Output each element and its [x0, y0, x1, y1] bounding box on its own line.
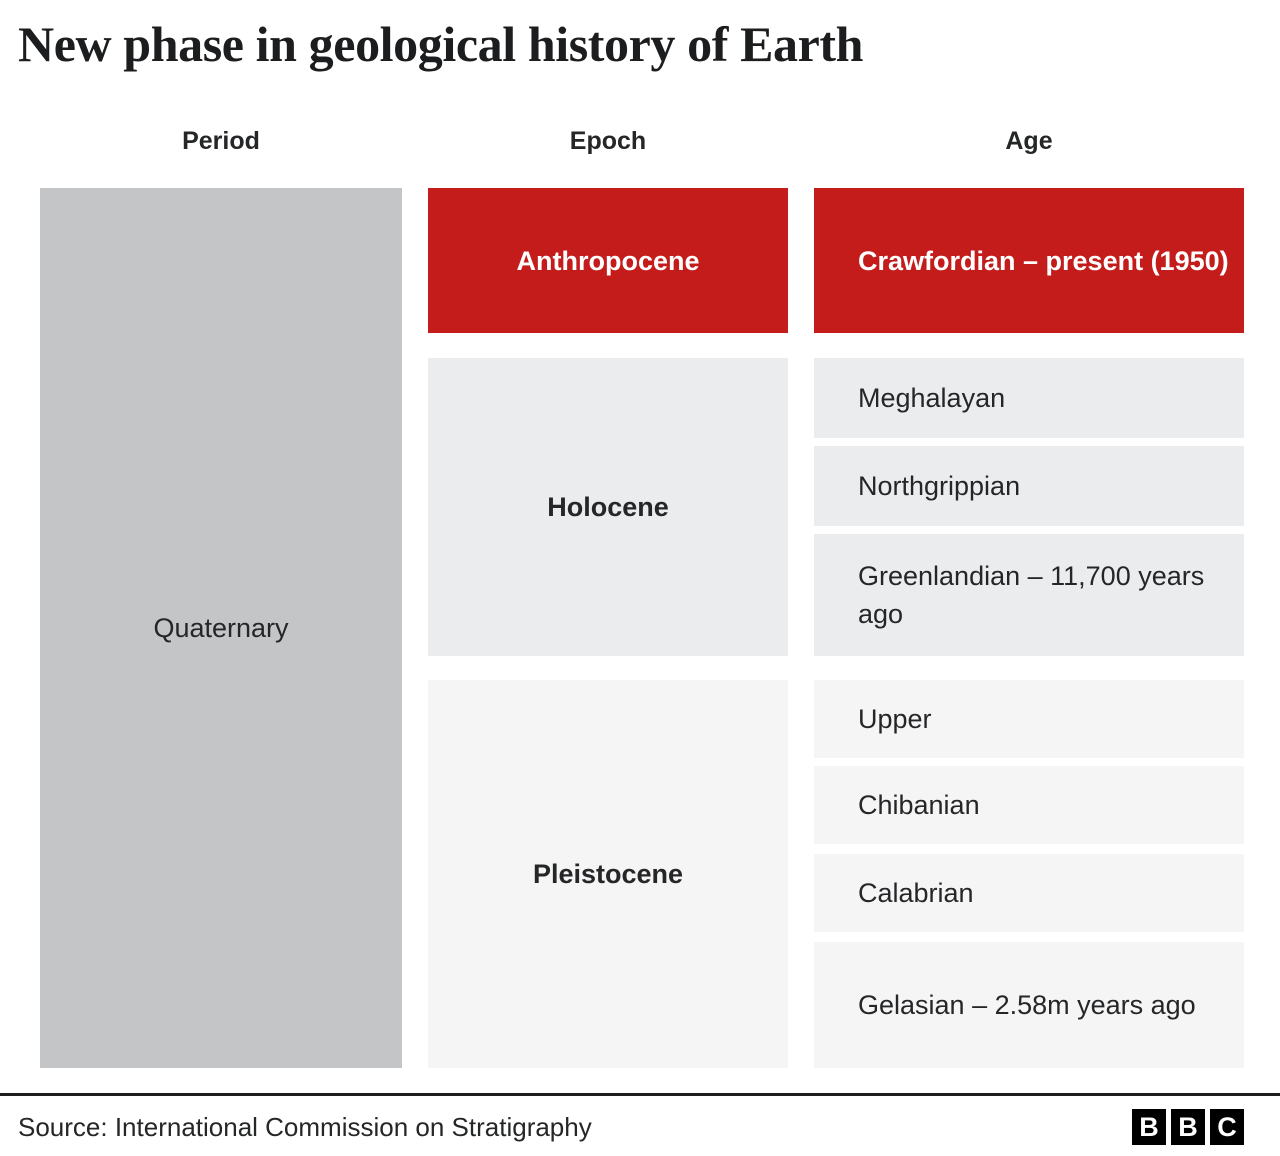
age-label-calabrian: Calabrian — [858, 874, 974, 912]
age-label-northgrippian: Northgrippian — [858, 467, 1020, 505]
epoch-cell-anthropocene: Anthropocene — [428, 188, 788, 333]
age-label-upper: Upper — [858, 700, 932, 738]
period-cell-quaternary: Quaternary — [40, 188, 402, 1068]
column-header-age: Age — [814, 126, 1244, 156]
bbc-logo-letter-2: B — [1171, 1109, 1205, 1145]
age-label-meghalayan: Meghalayan — [858, 379, 1005, 417]
age-label-greenlandian: Greenlandian – 11,700 years ago — [858, 557, 1244, 633]
age-label-chibanian: Chibanian — [858, 786, 980, 824]
bbc-logo-letter-3: C — [1210, 1109, 1244, 1145]
age-cell-northgrippian: Northgrippian — [814, 446, 1244, 526]
epoch-label-anthropocene: Anthropocene — [516, 242, 699, 280]
column-header-period: Period — [40, 126, 402, 156]
age-cell-crawfordian: Crawfordian – present (1950) — [814, 188, 1244, 333]
age-label-crawfordian: Crawfordian – present (1950) — [858, 242, 1229, 280]
footer-divider — [0, 1093, 1280, 1096]
bbc-logo: B B C — [1132, 1109, 1244, 1145]
epoch-label-pleistocene: Pleistocene — [533, 855, 683, 893]
column-header-epoch: Epoch — [428, 126, 788, 156]
age-cell-chibanian: Chibanian — [814, 766, 1244, 844]
epoch-label-holocene: Holocene — [547, 488, 669, 526]
age-cell-upper: Upper — [814, 680, 1244, 758]
page-title: New phase in geological history of Earth — [18, 13, 1218, 75]
epoch-cell-holocene: Holocene — [428, 358, 788, 656]
age-cell-calabrian: Calabrian — [814, 854, 1244, 932]
bbc-logo-letter-1: B — [1132, 1109, 1166, 1145]
infographic-canvas: New phase in geological history of Earth… — [0, 0, 1280, 1156]
period-label-quaternary: Quaternary — [153, 609, 288, 647]
age-cell-gelasian: Gelasian – 2.58m years ago — [814, 942, 1244, 1068]
source-attribution: Source: International Commission on Stra… — [18, 1110, 592, 1144]
age-cell-meghalayan: Meghalayan — [814, 358, 1244, 438]
age-cell-greenlandian: Greenlandian – 11,700 years ago — [814, 534, 1244, 656]
age-label-gelasian: Gelasian – 2.58m years ago — [858, 986, 1196, 1024]
epoch-cell-pleistocene: Pleistocene — [428, 680, 788, 1068]
